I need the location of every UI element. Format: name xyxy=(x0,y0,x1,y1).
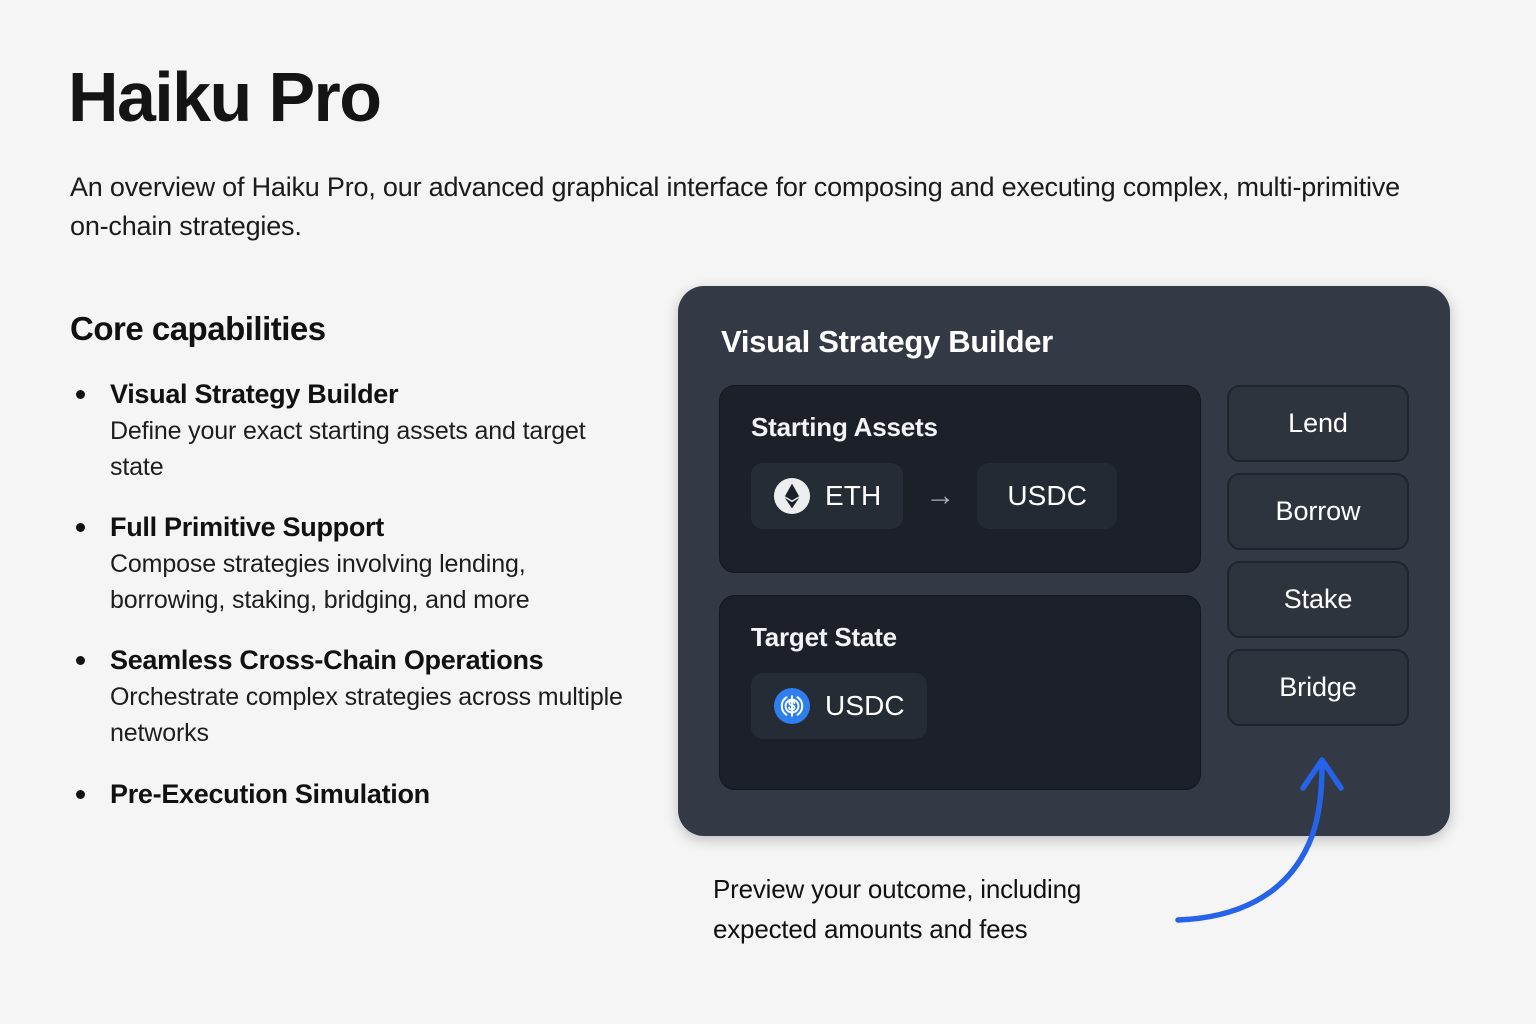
list-item: Pre-Execution Simulation xyxy=(70,776,630,813)
starting-assets-label: Starting Assets xyxy=(751,412,938,443)
capability-title: Full Primitive Support xyxy=(110,509,630,546)
token-label-eth: ETH xyxy=(825,480,881,512)
token-label-usdc-target: USDC xyxy=(825,690,905,722)
token-chip-usdc-target[interactable]: USDC xyxy=(977,463,1117,529)
starting-assets-card: Starting Assets ETH → USDC xyxy=(719,385,1201,573)
token-chip-usdc[interactable]: USDC xyxy=(751,673,927,739)
capability-description: Define your exact starting assets and ta… xyxy=(110,413,630,486)
token-chip-eth[interactable]: ETH xyxy=(751,463,903,529)
capability-title: Pre-Execution Simulation xyxy=(110,776,630,813)
primitive-button-borrow[interactable]: Borrow xyxy=(1227,473,1409,550)
usdc-icon xyxy=(773,687,811,725)
bullet-icon xyxy=(76,390,85,399)
bullet-icon xyxy=(76,656,85,665)
core-capabilities-heading: Core capabilities xyxy=(70,310,326,348)
primitive-button-stake[interactable]: Stake xyxy=(1227,561,1409,638)
primitive-button-lend[interactable]: Lend xyxy=(1227,385,1409,462)
page-subtitle: An overview of Haiku Pro, our advanced g… xyxy=(70,168,1440,246)
bullet-icon xyxy=(76,523,85,532)
page-title: Haiku Pro xyxy=(68,62,380,132)
list-item: Full Primitive Support Compose strategie… xyxy=(70,509,630,618)
callout-caption: Preview your outcome, including expected… xyxy=(713,870,1183,949)
target-state-chip-row: USDC xyxy=(751,673,927,739)
list-item: Seamless Cross-Chain Operations Orchestr… xyxy=(70,642,630,751)
visual-strategy-builder-panel: Visual Strategy Builder Starting Assets … xyxy=(678,286,1450,836)
starting-assets-chip-row: ETH → USDC xyxy=(751,463,1117,529)
capability-title: Visual Strategy Builder xyxy=(110,376,630,413)
primitive-button-column: Lend Borrow Stake Bridge xyxy=(1227,385,1409,726)
bullet-icon xyxy=(76,790,85,799)
token-label-usdc: USDC xyxy=(1007,480,1087,512)
capability-description: Orchestrate complex strategies across mu… xyxy=(110,679,630,752)
arrow-right-icon: → xyxy=(925,481,955,511)
capability-description: Compose strategies involving lending, bo… xyxy=(110,546,630,619)
target-state-card: Target State USDC xyxy=(719,595,1201,790)
primitive-button-bridge[interactable]: Bridge xyxy=(1227,649,1409,726)
ethereum-icon xyxy=(773,477,811,515)
list-item: Visual Strategy Builder Define your exac… xyxy=(70,376,630,485)
target-state-label: Target State xyxy=(751,622,897,653)
builder-panel-title: Visual Strategy Builder xyxy=(721,324,1053,360)
capability-title: Seamless Cross-Chain Operations xyxy=(110,642,630,679)
core-capabilities-list: Visual Strategy Builder Define your exac… xyxy=(70,376,630,836)
